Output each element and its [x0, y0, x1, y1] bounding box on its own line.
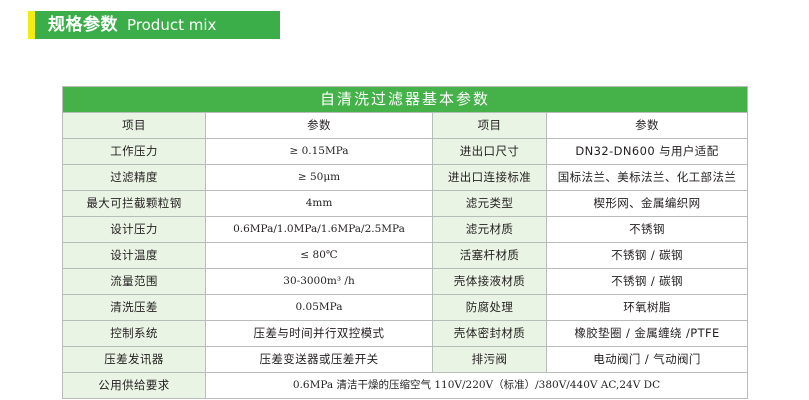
table-header-row: 项目 参数 项目 参数: [63, 113, 748, 139]
table-footer-row: 公用供给要求 0.6MPa 清洁干燥的压缩空气 110V/220V（标准）/38…: [63, 373, 748, 399]
table-row: 压差发讯器 压差变送器或压差开关 排污阀 电动阀门 / 气动阀门: [63, 347, 748, 373]
table-title: 自清洗过滤器基本参数: [63, 87, 748, 113]
column-header-param-left: 参数: [206, 113, 433, 139]
table-row: 设计压力 0.6MPa/1.0MPa/1.6MPa/2.5MPa 滤元材质 不锈…: [63, 217, 748, 243]
row-value-right: 电动阀门 / 气动阀门: [547, 347, 748, 373]
column-header-item-left: 项目: [63, 113, 206, 139]
row-value-right: DN32-DN600 与用户适配: [547, 139, 748, 165]
row-value-right: 不锈钢: [547, 217, 748, 243]
spec-table-container: 自清洗过滤器基本参数 项目 参数 项目 参数 工作压力 ≥ 0.15MPa 进出…: [62, 86, 747, 399]
banner-accent-bar: [28, 11, 35, 39]
row-value-left: ≥ 50μm: [206, 165, 433, 191]
row-value-right: 不锈钢 / 碳钢: [547, 269, 748, 295]
column-header-param-right: 参数: [547, 113, 748, 139]
row-value-right: 楔形网、金属编织网: [547, 191, 748, 217]
table-row: 控制系统 压差与时间并行双控模式 壳体密封材质 橡胶垫圈 / 金属缠绕 /PTF…: [63, 321, 748, 347]
row-label-left: 工作压力: [63, 139, 206, 165]
row-label-right: 壳体接液材质: [433, 269, 547, 295]
spec-table: 自清洗过滤器基本参数 项目 参数 项目 参数 工作压力 ≥ 0.15MPa 进出…: [62, 86, 748, 399]
row-label-left: 控制系统: [63, 321, 206, 347]
row-value-left: 0.05MPa: [206, 295, 433, 321]
row-label-left: 压差发讯器: [63, 347, 206, 373]
row-value-left: ≤ 80℃: [206, 243, 433, 269]
row-value-left: 压差变送器或压差开关: [206, 347, 433, 373]
footer-row-value: 0.6MPa 清洁干燥的压缩空气 110V/220V（标准）/380V/440V…: [206, 373, 748, 399]
row-value-left: 压差与时间并行双控模式: [206, 321, 433, 347]
row-label-left: 过滤精度: [63, 165, 206, 191]
row-value-right: 国标法兰、美标法兰、化工部法兰: [547, 165, 748, 191]
row-label-left: 清洗压差: [63, 295, 206, 321]
row-label-right: 活塞杆材质: [433, 243, 547, 269]
row-value-right: 橡胶垫圈 / 金属缠绕 /PTFE: [547, 321, 748, 347]
row-label-right: 进出口连接标准: [433, 165, 547, 191]
row-label-right: 滤元类型: [433, 191, 547, 217]
row-value-left: 4mm: [206, 191, 433, 217]
row-label-right: 防腐处理: [433, 295, 547, 321]
column-header-item-right: 项目: [433, 113, 547, 139]
table-row: 流量范围 30-3000m³ /h 壳体接液材质 不锈钢 / 碳钢: [63, 269, 748, 295]
table-row: 工作压力 ≥ 0.15MPa 进出口尺寸 DN32-DN600 与用户适配: [63, 139, 748, 165]
banner-title-cn: 规格参数: [48, 17, 118, 34]
banner-title-en: Product mix: [127, 18, 216, 33]
row-label-left: 设计压力: [63, 217, 206, 243]
section-banner: 规格参数 Product mix: [28, 11, 280, 39]
row-value-left: 30-3000m³ /h: [206, 269, 433, 295]
table-row: 设计温度 ≤ 80℃ 活塞杆材质 不锈钢 / 碳钢: [63, 243, 748, 269]
banner-body: 规格参数 Product mix: [35, 11, 280, 39]
row-value-left: ≥ 0.15MPa: [206, 139, 433, 165]
row-value-right: 不锈钢 / 碳钢: [547, 243, 748, 269]
row-value-left: 0.6MPa/1.0MPa/1.6MPa/2.5MPa: [206, 217, 433, 243]
row-label-right: 排污阀: [433, 347, 547, 373]
row-label-left: 最大可拦截颗粒钢: [63, 191, 206, 217]
row-value-right: 环氧树脂: [547, 295, 748, 321]
footer-row-label: 公用供给要求: [63, 373, 206, 399]
table-row: 最大可拦截颗粒钢 4mm 滤元类型 楔形网、金属编织网: [63, 191, 748, 217]
row-label-left: 设计温度: [63, 243, 206, 269]
row-label-right: 滤元材质: [433, 217, 547, 243]
table-row: 过滤精度 ≥ 50μm 进出口连接标准 国标法兰、美标法兰、化工部法兰: [63, 165, 748, 191]
row-label-left: 流量范围: [63, 269, 206, 295]
table-title-row: 自清洗过滤器基本参数: [63, 87, 748, 113]
row-label-right: 进出口尺寸: [433, 139, 547, 165]
row-label-right: 壳体密封材质: [433, 321, 547, 347]
table-row: 清洗压差 0.05MPa 防腐处理 环氧树脂: [63, 295, 748, 321]
